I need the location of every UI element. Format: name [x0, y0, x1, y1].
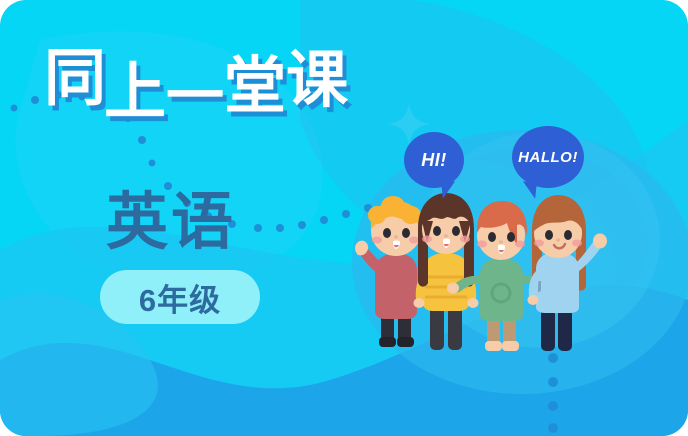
- grade-badge: 6年级: [100, 270, 260, 324]
- title-char-5: 课: [286, 50, 350, 112]
- subject-title: 英语: [106, 192, 236, 254]
- kids-group-svg: [355, 185, 675, 360]
- title-char-3: 一: [166, 68, 226, 126]
- grade-badge-label: 6年级: [139, 275, 221, 320]
- character-long-hair-girl-waving: [528, 195, 608, 351]
- title-char-4: 堂: [224, 56, 288, 118]
- page-title: 同上一堂课: [44, 48, 384, 126]
- speech-bubble-hi: HI!: [404, 132, 464, 188]
- character-brown-hair-girl: [414, 193, 479, 350]
- title-char-2: 上: [104, 62, 168, 124]
- title-char-1: 同: [44, 48, 108, 110]
- kids-group-illustration: [355, 185, 675, 360]
- speech-bubble-hallo-text: HALLO!: [518, 149, 578, 166]
- speech-bubble-hi-text: HI!: [421, 150, 447, 171]
- character-blonde-boy-waving: [355, 196, 422, 347]
- speech-bubble-hallo: HALLO!: [512, 126, 584, 188]
- course-cover-card: 同上一堂课 英语 6年级 HI! HALLO!: [0, 0, 688, 436]
